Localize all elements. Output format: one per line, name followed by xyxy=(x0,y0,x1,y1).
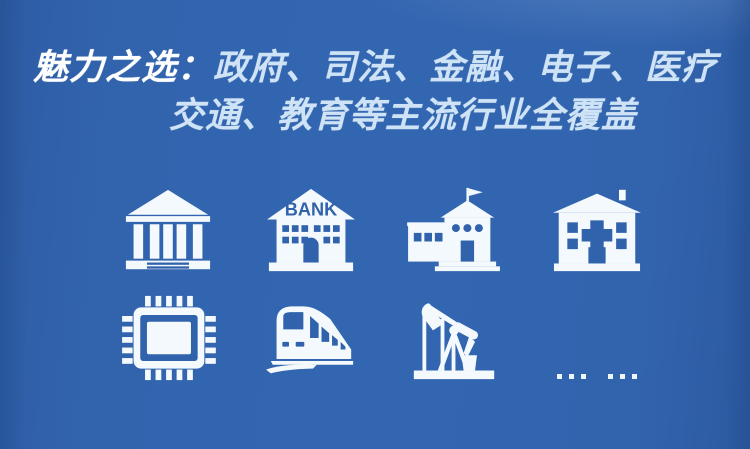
ellipsis-dot xyxy=(632,374,637,379)
oil-pumpjack-icon xyxy=(406,294,502,382)
headline: 魅力之选：政府、司法、金融、电子、医疗 交通、教育等主流行业全覆盖 xyxy=(0,44,750,140)
icon-cell-bank[interactable]: BANK xyxy=(251,180,371,280)
ellipsis-dot xyxy=(557,374,562,379)
icon-cell-government[interactable] xyxy=(108,180,228,280)
government-building-icon xyxy=(120,186,216,274)
ellipsis-dot xyxy=(608,374,613,379)
ellipsis-dot xyxy=(620,374,625,379)
icon-cell-hospital[interactable] xyxy=(537,180,657,280)
icon-cell-chip[interactable] xyxy=(108,288,228,388)
school-building-icon xyxy=(406,186,502,274)
cpu-chip-icon xyxy=(120,294,216,382)
ellipsis-dot xyxy=(581,374,586,379)
ellipsis-dot xyxy=(569,374,574,379)
icon-cell-oil-pump[interactable] xyxy=(394,288,514,388)
svg-text:BANK: BANK xyxy=(284,200,336,220)
headline-lead: 魅力之选： xyxy=(33,48,213,87)
train-icon xyxy=(263,294,359,382)
icon-cell-train[interactable] xyxy=(251,288,371,388)
headline-line-2: 交通、教育等主流行业全覆盖 xyxy=(0,92,750,140)
headline-line-1: 魅力之选：政府、司法、金融、电子、医疗 xyxy=(0,44,750,92)
bank-building-icon: BANK xyxy=(263,186,359,274)
industry-icon-grid: BANK xyxy=(96,176,668,392)
icon-cell-school[interactable] xyxy=(394,180,514,280)
headline-line-1-rest: 政府、司法、金融、电子、医疗 xyxy=(213,48,717,87)
icon-cell-more[interactable] xyxy=(557,279,637,397)
industry-coverage-banner: 魅力之选：政府、司法、金融、电子、医疗 交通、教育等主流行业全覆盖 xyxy=(0,0,750,449)
ellipsis-gap xyxy=(593,374,601,379)
hospital-building-icon xyxy=(549,186,645,274)
